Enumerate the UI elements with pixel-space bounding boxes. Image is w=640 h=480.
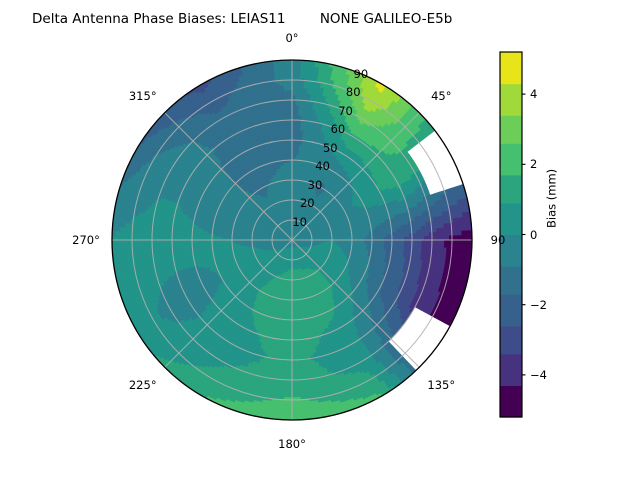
figure-canvas: Delta Antenna Phase Biases: LEIAS11 NONE… — [0, 0, 640, 480]
